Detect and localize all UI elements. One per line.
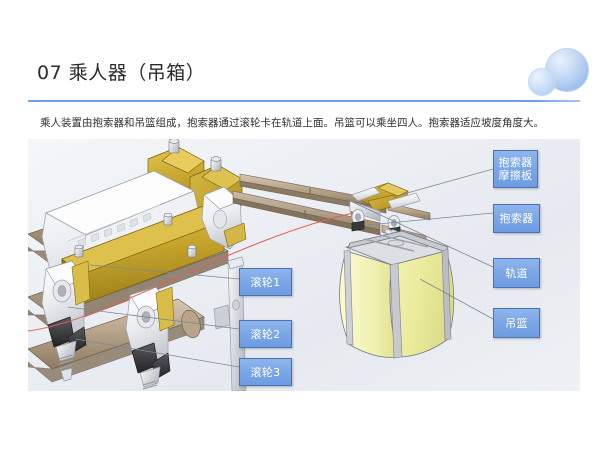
callout-gondola[interactable]: 吊篮 [493,308,540,338]
callout-friction-plate-line1: 抱索器 [499,157,533,170]
callout-gripper[interactable]: 抱索器 [493,204,540,233]
callout-roller-1[interactable]: 滚轮1 [239,268,292,296]
callout-rail[interactable]: 轨道 [493,258,540,288]
callout-roller-3-label: 滚轮3 [251,366,281,379]
callout-gondola-label: 吊篮 [505,317,528,330]
callout-roller-1-label: 滚轮1 [251,276,281,289]
callout-rail-label: 轨道 [505,267,528,280]
decorative-circle-small-icon [528,68,556,96]
trolley-detail [28,139,246,391]
callout-roller-2-label: 滚轮2 [251,328,281,341]
gondola [340,231,454,358]
callout-friction-plate-line2: 摩擦板 [499,170,533,183]
slide-subtitle: 乘人装置由抱索器和吊篮组成，抱索器通过滚轮卡在轨道上面。吊篮可以乘坐四人。抱索器… [40,115,570,131]
slide-page: 07 乘人器（吊箱） 乘人装置由抱索器和吊篮组成，抱索器通过滚轮卡在轨道上面。吊… [0,0,600,450]
header-divider [28,100,580,102]
page-title: 07 乘人器（吊箱） [37,58,205,85]
callout-roller-2[interactable]: 滚轮2 [239,320,292,348]
header-decoration [520,38,600,108]
callout-friction-plate[interactable]: 抱索器 摩擦板 [493,150,538,188]
callout-roller-3[interactable]: 滚轮3 [239,358,292,386]
callout-gripper-label: 抱索器 [500,212,534,225]
